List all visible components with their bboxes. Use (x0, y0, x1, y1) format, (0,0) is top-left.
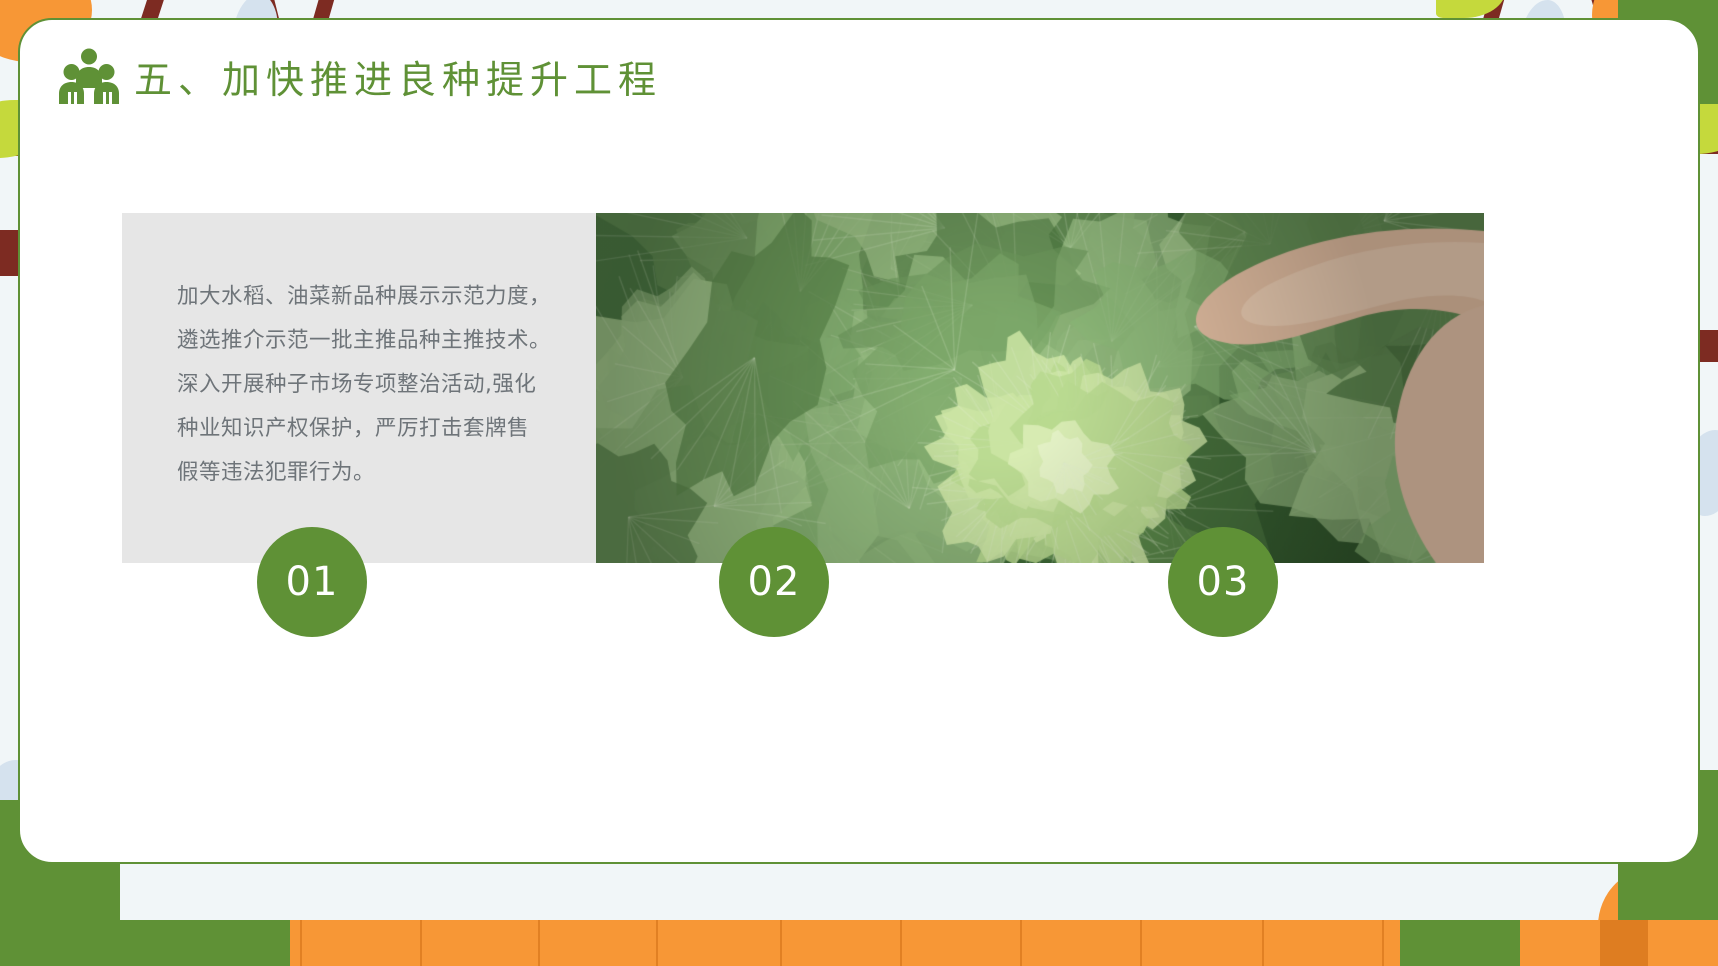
slide-card: 五、加快推进良种提升工程 加大水稻、油菜新品种展示示范力度， 遴选推介示范一批主… (18, 18, 1700, 864)
content-row: 加大水稻、油菜新品种展示示范力度， 遴选推介示范一批主推品种主推技术。 深入开展… (122, 213, 1484, 563)
people-group-icon (58, 48, 120, 104)
page-title: 五、加快推进良种提升工程 (134, 49, 662, 104)
step-marker-01[interactable]: 01 (257, 527, 367, 637)
decor-strip-block (1600, 920, 1648, 966)
slide-header: 五、加快推进良种提升工程 (58, 48, 662, 104)
step-marker-02[interactable]: 02 (719, 527, 829, 637)
cabbage-field-photo (596, 213, 1484, 563)
step-marker-03[interactable]: 03 (1168, 527, 1278, 637)
decor-green-bottom-right (1400, 920, 1520, 966)
decor-strip-divider (900, 920, 902, 966)
decor-strip-divider (538, 920, 540, 966)
decor-strip-divider (780, 920, 782, 966)
text-panel: 加大水稻、油菜新品种展示示范力度， 遴选推介示范一批主推品种主推技术。 深入开展… (122, 213, 596, 563)
decor-strip-divider (1020, 920, 1022, 966)
decor-strip-divider (656, 920, 658, 966)
decor-strip-divider (1382, 920, 1384, 966)
decor-green-bottom-left (0, 920, 290, 966)
decor-strip-divider (1262, 920, 1264, 966)
photo-canvas (596, 213, 1484, 563)
decor-strip-divider (420, 920, 422, 966)
body-paragraph: 加大水稻、油菜新品种展示示范力度， 遴选推介示范一批主推品种主推技术。 深入开展… (177, 275, 577, 495)
decor-strip-divider (300, 920, 302, 966)
decor-strip-divider (1140, 920, 1142, 966)
